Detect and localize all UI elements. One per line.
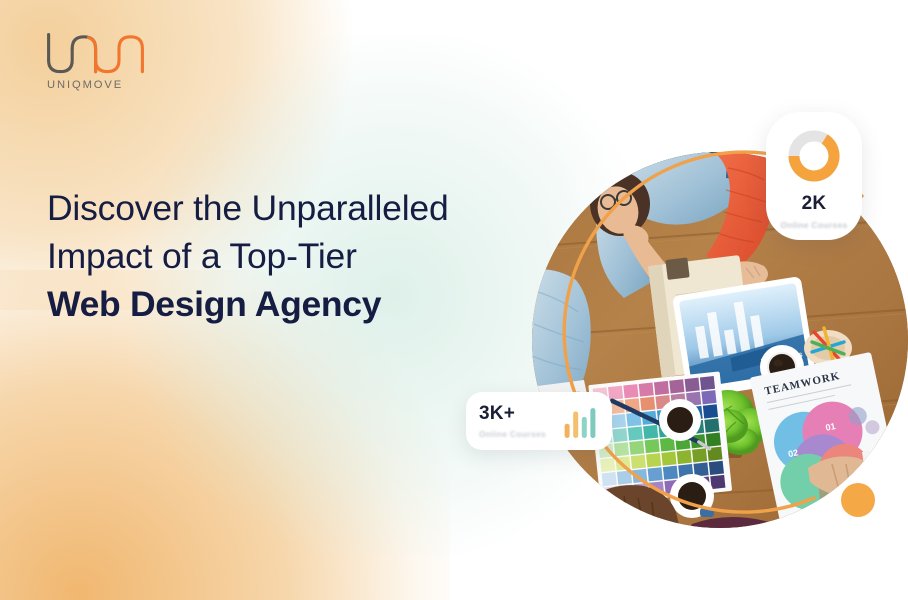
svg-text:02: 02 — [787, 447, 799, 459]
donut-chart-icon — [786, 128, 842, 184]
page-title: Discover the Unparalleled Impact of a To… — [47, 184, 567, 328]
headline-line-3: Web Design Agency — [47, 280, 567, 328]
stat-badge-online-courses-3k[interactable]: 3K+ Online Courses — [466, 392, 612, 450]
stat-caption-2k: Online Courses — [780, 220, 847, 230]
headline-line-2: Impact of a Top-Tier — [47, 232, 567, 280]
logo-wordmark: UNIQMOVE — [47, 79, 123, 91]
hero-banner: UNIQMOVE Discover the Unparalleled Impac… — [0, 0, 908, 600]
accent-dot-icon — [841, 483, 875, 517]
stat-badge-online-courses-2k[interactable]: 2K Online Courses — [766, 112, 862, 240]
uniqmove-logo[interactable]: UNIQMOVE — [44, 30, 150, 92]
svg-text:01: 01 — [825, 421, 837, 433]
headline-line-1: Discover the Unparalleled — [47, 184, 567, 232]
uniqmove-logo-icon: UNIQMOVE — [44, 30, 150, 92]
stat-value-2k: 2K — [802, 193, 827, 215]
bar-chart-icon — [561, 404, 599, 438]
stat-caption-3k: Online Courses — [479, 429, 561, 439]
stat-value-3k: 3K+ — [479, 403, 561, 425]
